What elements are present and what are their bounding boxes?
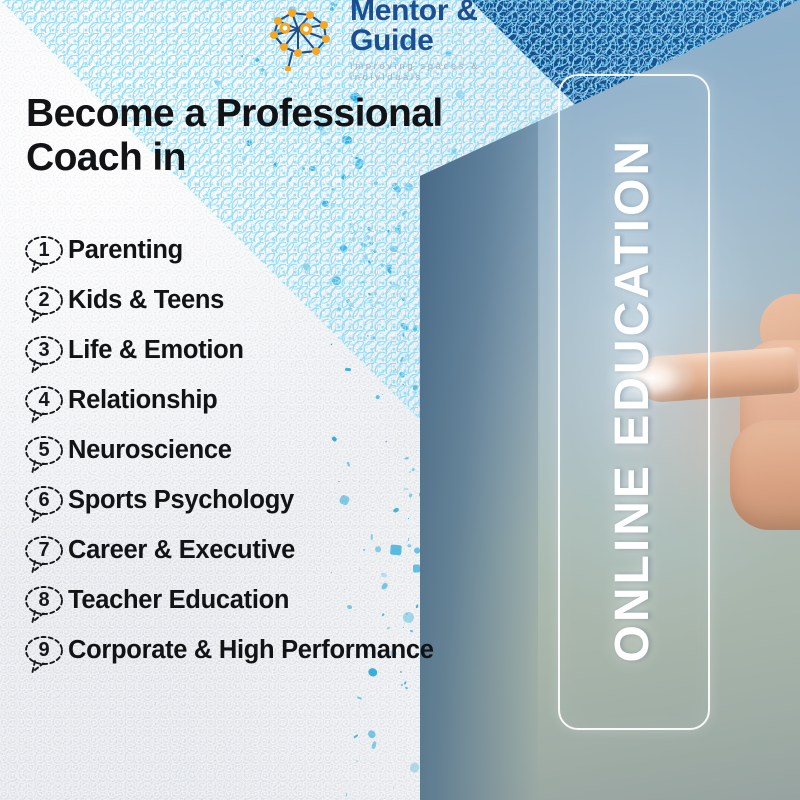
list-item-label: Relationship [68,384,217,415]
list-item: 5Neuroscience [24,434,444,475]
brain-network-icon [258,7,342,71]
speech-bubble-icon: 8 [24,585,68,625]
list-item: 3Life & Emotion [24,334,444,375]
list-item-label: Kids & Teens [68,284,224,315]
speech-bubble-icon: 9 [24,635,68,675]
list-item-label: Teacher Education [68,584,289,615]
vertical-label-text: ONLINE EDUCATION [605,138,660,662]
list-item-number: 5 [24,435,64,466]
page-title: Become a Professional Coach in [26,92,486,180]
paint-speckle [405,686,409,689]
list-item: 8Teacher Education [24,584,444,625]
brand-text: Mentor & Guide Improving spaces & indivi… [350,0,548,83]
paint-speckle [366,729,377,740]
brand-name: Mentor & Guide [350,0,548,56]
list-item: 1Parenting [24,234,444,275]
speech-bubble-icon: 3 [24,335,68,375]
speech-bubble-icon: 5 [24,435,68,475]
list-item-number: 6 [24,485,64,516]
paint-speckle [392,787,393,788]
list-item-number: 1 [24,235,64,266]
list-item-label: Life & Emotion [68,334,244,365]
list-item: 4Relationship [24,384,444,425]
list-item: 7Career & Executive [24,534,444,575]
paint-speckle [371,740,377,749]
list-item-number: 3 [24,335,64,366]
headline-line-2: Coach in [26,136,486,180]
headline-line-1: Become a Professional [26,92,486,136]
list-item-number: 2 [24,285,64,316]
hand-lower-knuckles [730,420,800,530]
paint-speckle [345,793,346,796]
speech-bubble-icon: 6 [24,485,68,525]
paint-speckle [356,760,358,762]
brand-tagline: Improving spaces & individuals [350,61,548,83]
list-item-label: Career & Executive [68,534,295,565]
vertical-label: ONLINE EDUCATION [558,74,706,726]
speech-bubble-icon: 7 [24,535,68,575]
list-item-number: 7 [24,535,64,566]
list-item-number: 9 [24,635,64,666]
list-item-label: Sports Psychology [68,484,294,515]
list-item: 2Kids & Teens [24,284,444,325]
list-item-number: 4 [24,385,64,416]
speech-bubble-icon: 1 [24,235,68,275]
paint-speckle [410,762,420,773]
list-item-label: Parenting [68,234,183,265]
speech-bubble-icon: 2 [24,285,68,325]
coaching-topics-list: 1Parenting2Kids & Teens3Life & Emotion4R… [24,234,444,684]
list-item: 9Corporate & High Performance [24,634,444,675]
paint-speckle [357,696,362,699]
brand-logo: Mentor & Guide Improving spaces & indivi… [258,6,548,72]
list-item-label: Corporate & High Performance [68,634,434,665]
poster-canvas: ONLINE EDUCATION [0,0,800,800]
list-item-number: 8 [24,585,64,616]
list-item: 6Sports Psychology [24,484,444,525]
list-item-label: Neuroscience [68,434,232,465]
paint-speckle [352,734,358,739]
speech-bubble-icon: 4 [24,385,68,425]
